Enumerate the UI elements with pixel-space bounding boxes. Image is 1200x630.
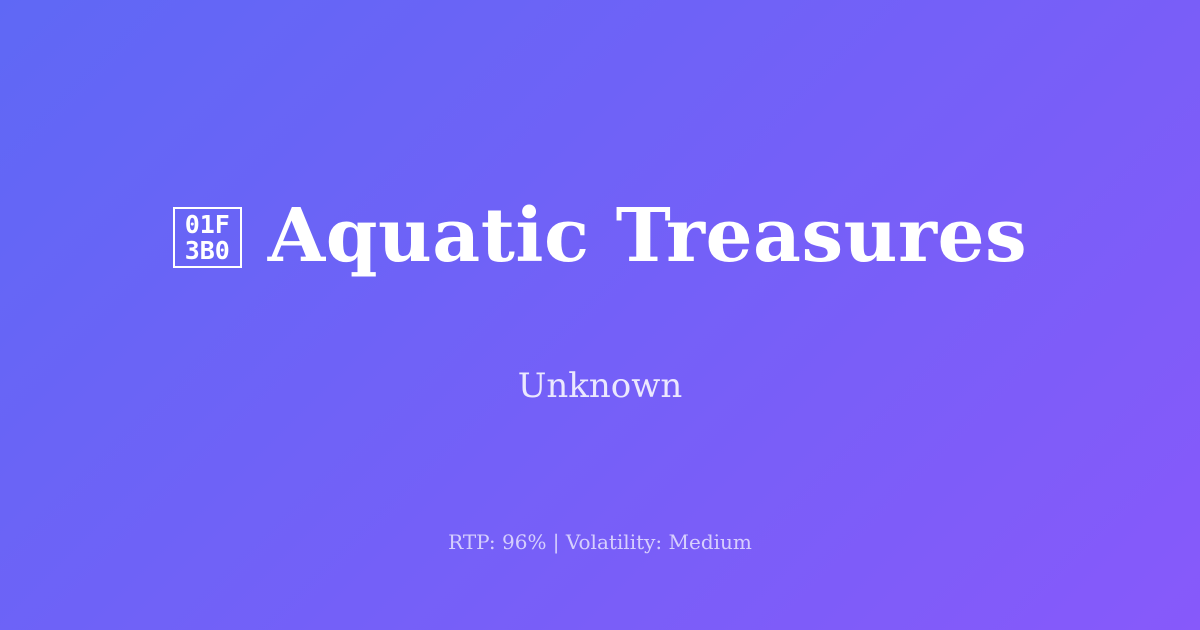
slot-machine-icon-codepoint-high: 01F (185, 212, 230, 238)
game-meta-line: RTP: 96% | Volatility: Medium (0, 528, 1200, 556)
slot-machine-icon: 01F 3B0 (173, 207, 242, 268)
game-og-card: 01F 3B0 Aquatic Treasures Unknown RTP: 9… (0, 0, 1200, 630)
title-line: 01F 3B0 Aquatic Treasures (173, 144, 1027, 327)
game-provider-subtitle: Unknown (0, 362, 1200, 410)
slot-machine-icon-codepoint-low: 3B0 (185, 238, 230, 264)
game-title: Aquatic Treasures (268, 194, 1027, 278)
